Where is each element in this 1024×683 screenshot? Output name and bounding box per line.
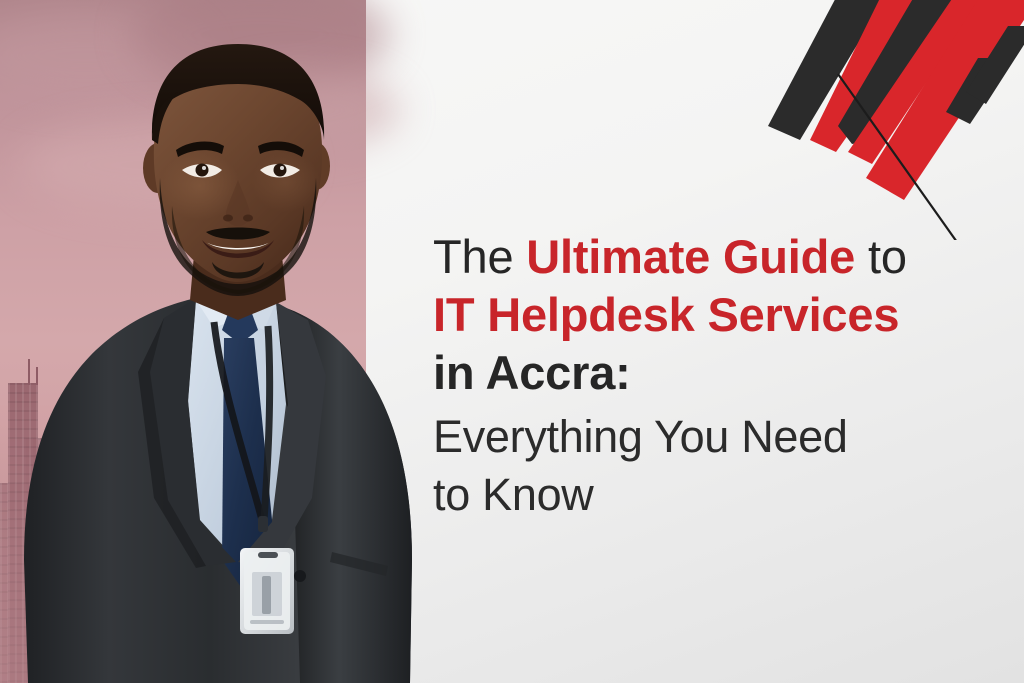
stripe-dark-2 [838, 0, 966, 144]
businessman-portrait [0, 0, 470, 683]
headline-line-5: to Know [433, 466, 978, 524]
stripe-red-3 [866, 0, 1024, 200]
stripe-group [768, 0, 1024, 240]
stripe-hairline [838, 74, 964, 240]
diagonal-stripes-corner-graphic [724, 0, 1024, 240]
stripe-red-1 [810, 0, 950, 152]
headline-line-4: Everything You Need [433, 408, 978, 466]
headline-block: The Ultimate Guide to IT Helpdesk Servic… [433, 228, 978, 524]
headline-line-1-accent: Ultimate Guide [526, 230, 855, 283]
headline-line-2: IT Helpdesk Services [433, 286, 978, 344]
stripe-dark-4 [966, 26, 1024, 104]
suit-button [294, 570, 306, 582]
lanyard-clip [258, 516, 268, 532]
blog-banner-canvas: The Ultimate Guide to IT Helpdesk Servic… [0, 0, 1024, 683]
stripe-red-2 [848, 0, 988, 164]
headline-line-1-prefix: The [433, 230, 526, 283]
stripe-dark-1 [768, 0, 890, 140]
stripe-dark-3 [946, 58, 1014, 124]
headline-line-3: in Accra: [433, 344, 978, 402]
head [143, 44, 330, 296]
id-badge [240, 548, 294, 634]
headline-line-1-suffix: to [855, 230, 907, 283]
headline-line-1: The Ultimate Guide to [433, 228, 978, 286]
